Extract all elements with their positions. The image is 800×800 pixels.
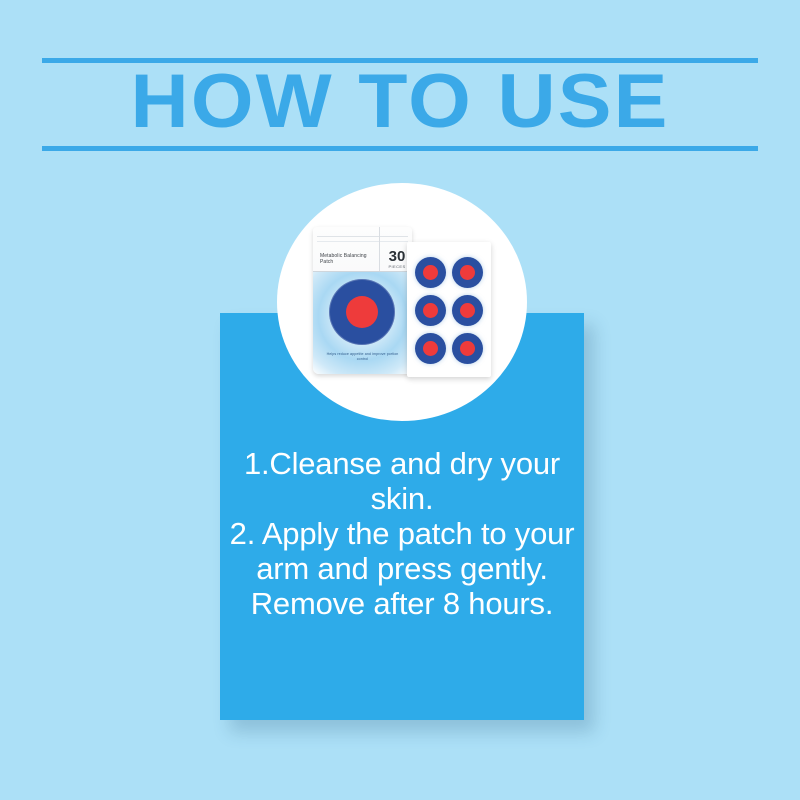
pouch-label-divider	[379, 227, 380, 271]
pouch-seal-line-top	[317, 236, 408, 237]
patch-sheet-grid	[413, 254, 485, 366]
product-pouch: Metabolic Balancing Patch 30 PIECES Help…	[313, 227, 412, 374]
patch-icon	[452, 333, 483, 364]
pouch-artwork-divider	[313, 271, 412, 272]
pouch-seal-line-bottom	[317, 241, 408, 242]
page-title: HOW TO USE	[0, 62, 800, 142]
pouch-product-name: Metabolic Balancing Patch	[320, 253, 376, 265]
product-image-circle: Metabolic Balancing Patch 30 PIECES Help…	[277, 183, 527, 421]
pouch-patch-graphic-icon	[329, 279, 395, 345]
how-to-use-poster: HOW TO USE 1.Cleanse and dry your skin. …	[0, 0, 800, 800]
header: HOW TO USE	[0, 0, 800, 175]
pouch-tagline: Helps reduce appetite and improve portio…	[325, 352, 400, 362]
pouch-artwork: Helps reduce appetite and improve portio…	[313, 271, 412, 374]
patch-sheet	[407, 242, 491, 377]
patch-icon	[452, 295, 483, 326]
patch-icon	[452, 257, 483, 288]
patch-icon	[415, 333, 446, 364]
instructions-text: 1.Cleanse and dry your skin. 2. Apply th…	[220, 446, 584, 621]
patch-icon	[415, 295, 446, 326]
patch-icon	[415, 257, 446, 288]
header-rule-bottom	[42, 146, 758, 151]
